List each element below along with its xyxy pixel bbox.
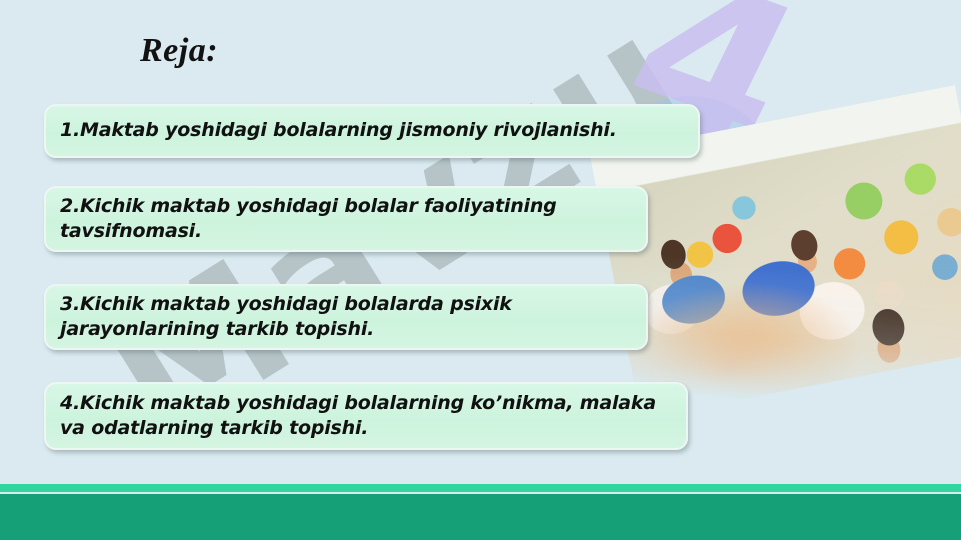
agenda-item-1[interactable]: 1.Maktab yoshidagi bolalarning jismoniy … — [44, 104, 700, 158]
slide-canvas: Mavzu 4 Reja: 1.Maktab yoshidagi bolalar… — [0, 0, 961, 540]
agenda-item-4[interactable]: 4.Kichik maktab yoshidagi bolalarning ko… — [44, 382, 688, 450]
agenda-item-2-label: 2.Kichik maktab yoshidagi bolalar faoliy… — [60, 194, 634, 244]
agenda-item-2[interactable]: 2.Kichik maktab yoshidagi bolalar faoliy… — [44, 186, 648, 252]
footer-bar — [0, 494, 961, 540]
agenda-item-3[interactable]: 3.Kichik maktab yoshidagi bolalarda psix… — [44, 284, 648, 350]
agenda-item-4-label: 4.Kichik maktab yoshidagi bolalarning ko… — [60, 391, 674, 441]
agenda-item-1-label: 1.Maktab yoshidagi bolalarning jismoniy … — [60, 118, 617, 143]
agenda-item-3-label: 3.Kichik maktab yoshidagi bolalarda psix… — [60, 292, 634, 342]
footer-accent-stripe — [0, 484, 961, 492]
page-title: Reja: — [140, 32, 218, 70]
